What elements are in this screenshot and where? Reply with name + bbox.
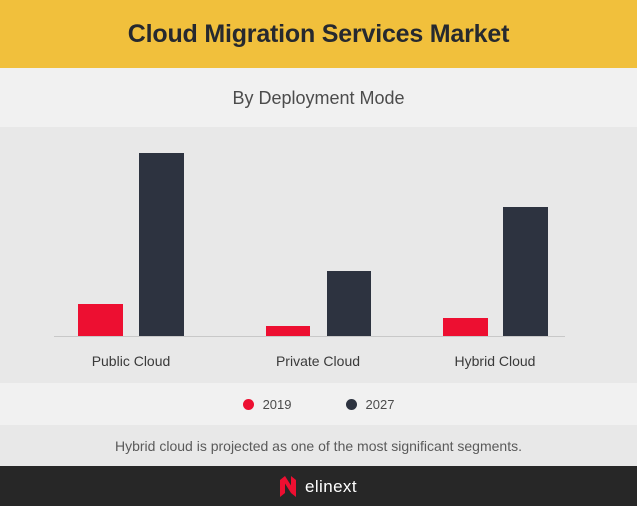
bar-public-cloud-2027 bbox=[139, 153, 184, 336]
bar-hybrid-cloud-2027 bbox=[503, 207, 548, 336]
bar-private-cloud-2019 bbox=[266, 326, 310, 336]
page-title: Cloud Migration Services Market bbox=[128, 22, 509, 47]
chart-area: Public CloudPrivate CloudHybrid Cloud bbox=[0, 127, 637, 383]
legend-dot-2027 bbox=[346, 399, 357, 410]
infographic-card: Cloud Migration Services Market By Deplo… bbox=[0, 0, 637, 506]
insight-caption: Hybrid cloud is projected as one of the … bbox=[115, 439, 522, 453]
x-axis-label-hybrid-cloud: Hybrid Cloud bbox=[415, 354, 575, 368]
subtitle-banner: By Deployment Mode bbox=[0, 68, 637, 127]
legend-label-2019: 2019 bbox=[263, 398, 292, 411]
elinext-wordmark: elinext bbox=[305, 478, 357, 495]
x-axis-label-private-cloud: Private Cloud bbox=[238, 354, 398, 368]
bar-private-cloud-2027 bbox=[327, 271, 371, 336]
bar-chart-plot: Public CloudPrivate CloudHybrid Cloud bbox=[0, 127, 637, 383]
x-axis-line bbox=[54, 336, 565, 337]
legend-item-2019[interactable]: 2019 bbox=[243, 398, 292, 411]
chart-legend: 20192027 bbox=[0, 383, 637, 425]
legend-item-2027[interactable]: 2027 bbox=[346, 398, 395, 411]
caption-banner: Hybrid cloud is projected as one of the … bbox=[0, 425, 637, 466]
legend-dot-2019 bbox=[243, 399, 254, 410]
footer-logo-bar: elinext bbox=[0, 466, 637, 506]
bar-hybrid-cloud-2019 bbox=[443, 318, 488, 336]
legend-label-2027: 2027 bbox=[366, 398, 395, 411]
bar-public-cloud-2019 bbox=[78, 304, 123, 336]
chart-subtitle: By Deployment Mode bbox=[232, 89, 404, 107]
elinext-n-logo-icon bbox=[280, 476, 296, 497]
x-axis-label-public-cloud: Public Cloud bbox=[51, 354, 211, 368]
header-banner: Cloud Migration Services Market bbox=[0, 0, 637, 68]
